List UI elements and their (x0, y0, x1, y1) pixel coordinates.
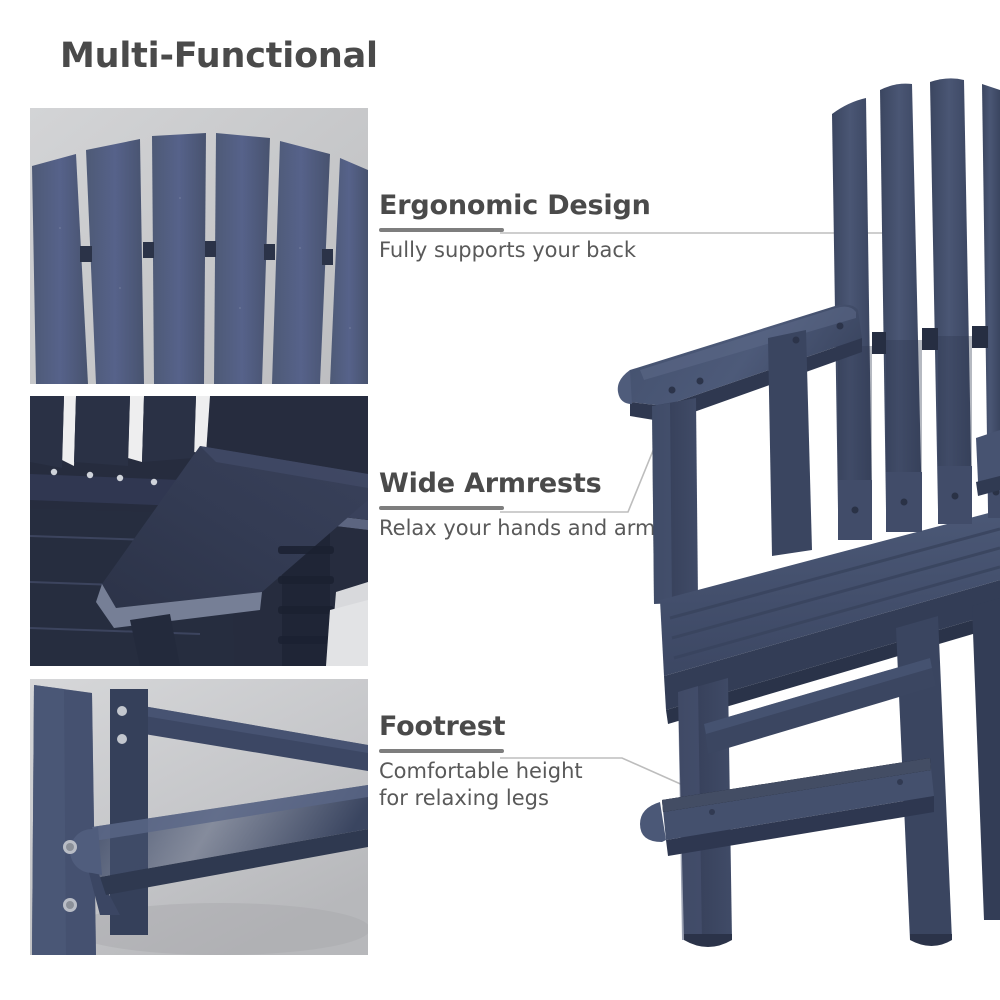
product-image-main-chair (600, 40, 1000, 960)
feature-rule-accent (379, 749, 504, 753)
feature-rule-accent (379, 228, 504, 232)
inset-photo-chair-back (30, 108, 368, 384)
feature-callout-footrest: Footrest Comfortable height for relaxing… (379, 713, 583, 811)
feature-subtitle-line: for relaxing legs (379, 785, 583, 811)
infographic-canvas: Multi-Functional (0, 0, 1000, 1000)
page-title: Multi-Functional (60, 36, 378, 76)
inset-photo-armrest (30, 396, 368, 666)
feature-subtitle-line: Comfortable height (379, 758, 583, 784)
feature-rule-accent (379, 506, 504, 510)
inset-photo-footrest (30, 679, 368, 955)
feature-rule (379, 747, 583, 754)
feature-title: Footrest (379, 713, 583, 741)
